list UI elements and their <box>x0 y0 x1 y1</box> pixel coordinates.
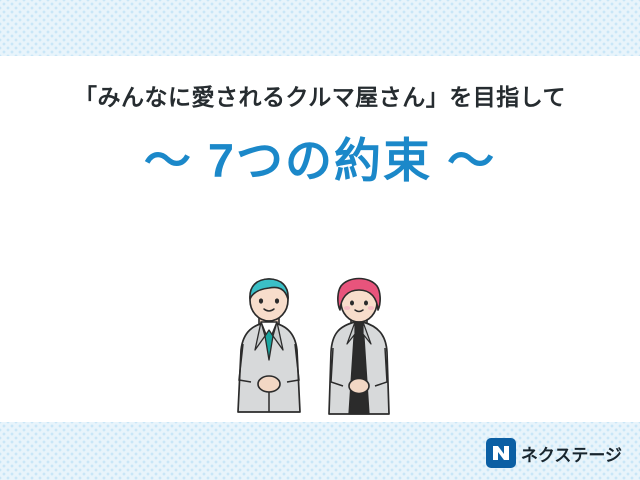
businesswoman-figure <box>329 279 389 415</box>
subline-text: 〜 7つの約束 〜 <box>0 122 640 191</box>
two-people-illustration <box>205 272 435 424</box>
brand-logo: ネクステージ <box>486 438 622 468</box>
illustration-figures <box>0 272 640 424</box>
brand-name: ネクステージ <box>521 441 622 466</box>
nexstage-n-mark-icon <box>486 438 516 468</box>
businessman-figure <box>238 279 300 412</box>
n-letter-icon <box>490 442 512 464</box>
top-dotted-band <box>0 0 640 56</box>
headline-text: 「みんなに愛されるクルマ屋さん」を目指して <box>0 78 640 112</box>
slide-canvas: 「みんなに愛されるクルマ屋さん」を目指して 〜 7つの約束 〜 <box>0 0 640 480</box>
